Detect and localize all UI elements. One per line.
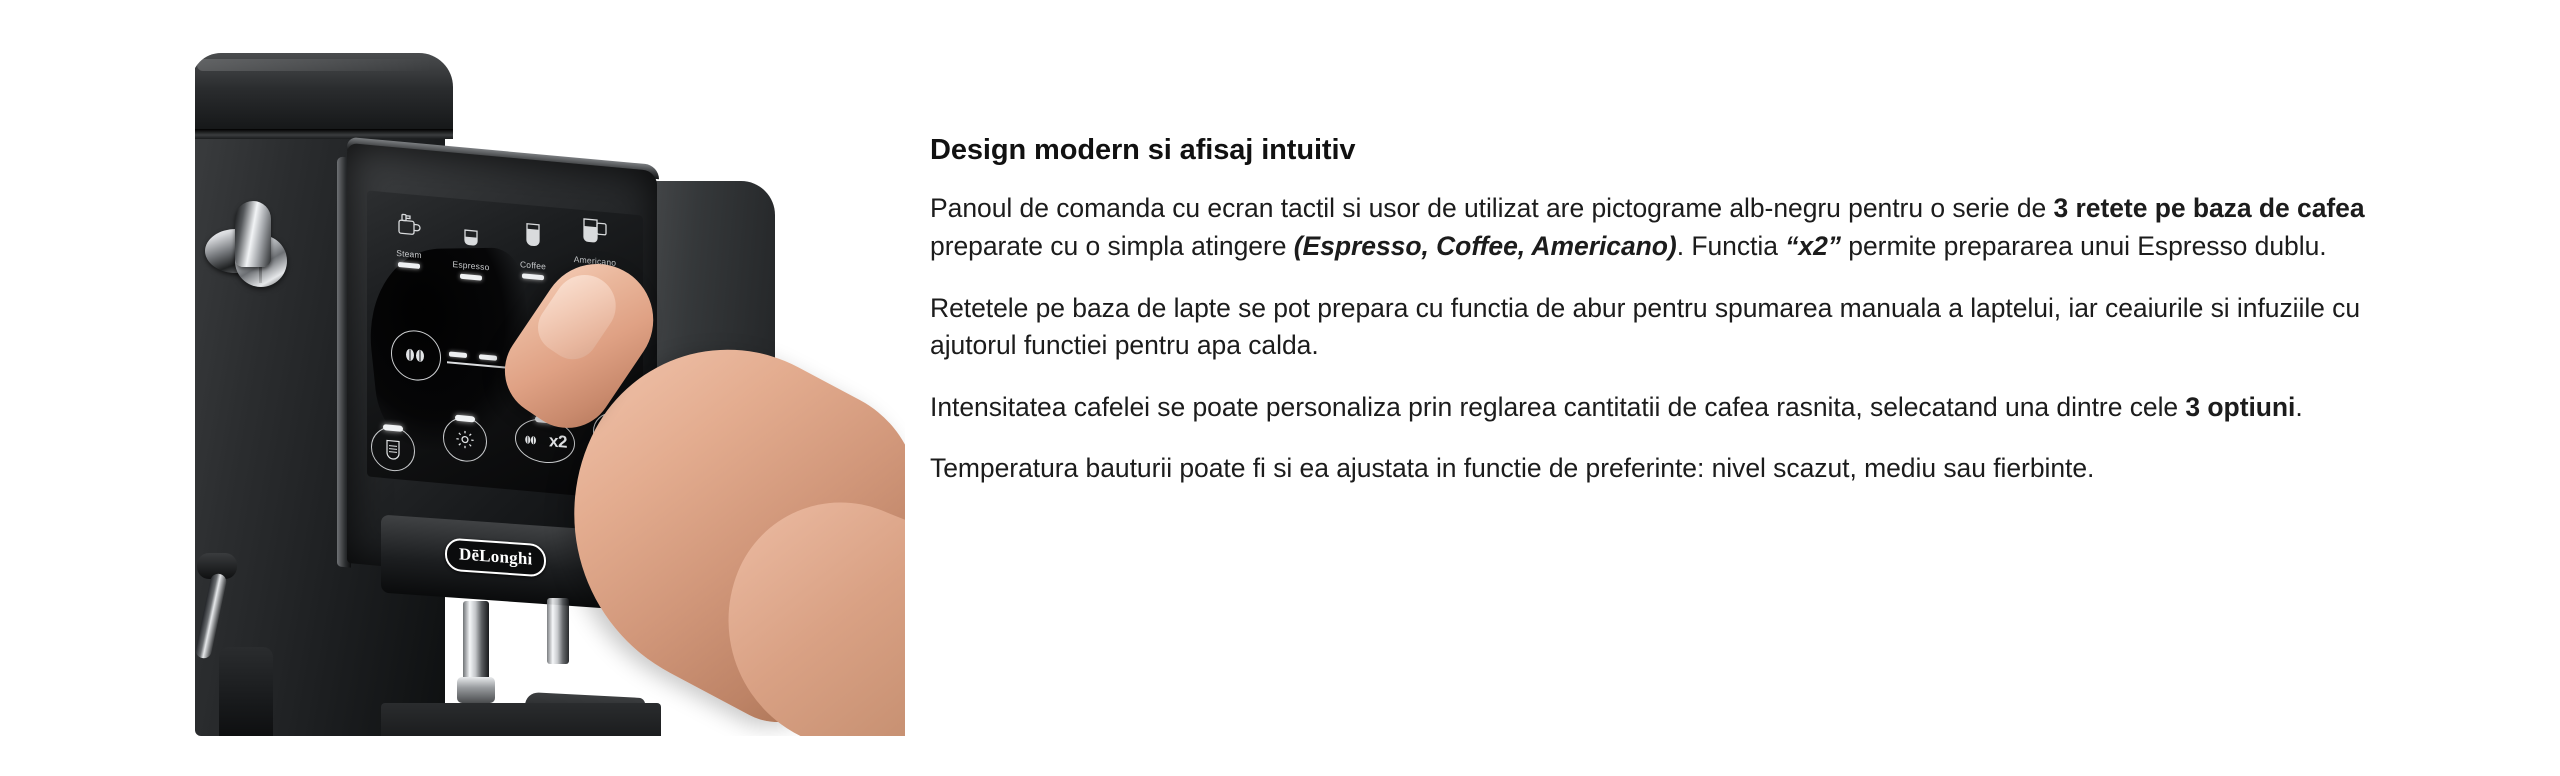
text-run-5: “x2” xyxy=(1785,231,1841,261)
text-run-2: . xyxy=(2295,392,2302,422)
americano-mug-icon xyxy=(569,213,621,255)
coffee-cup-icon xyxy=(507,217,559,259)
feature-text-column: Design modern si afisaj intuitiv Panoul … xyxy=(930,132,2370,488)
steam-jug-icon xyxy=(383,208,435,248)
drink-led-steam xyxy=(398,262,420,269)
paragraph-1: Panoul de comanda cu ecran tactil si uso… xyxy=(930,190,2370,265)
product-feature-section: Steam Espresso xyxy=(0,0,2560,776)
coffee-machine-photo: Steam Espresso xyxy=(195,53,905,736)
steam-knob xyxy=(205,201,291,293)
drink-label-espresso: Espresso xyxy=(445,258,497,273)
text-run-1: 3 optiuni xyxy=(2185,392,2295,422)
text-run-3: (Espresso, Coffee, Americano) xyxy=(1294,231,1677,261)
strength-level-2 xyxy=(479,354,497,361)
paragraph-2: Retetele pe baza de lapte se pot prepara… xyxy=(930,290,2370,365)
text-run-1: 3 retete pe baza de cafea xyxy=(2054,193,2365,223)
coffee-beans-icon xyxy=(391,328,441,383)
steam-wand-tip xyxy=(219,647,273,736)
strength-level-1 xyxy=(449,351,467,358)
spout-chrome-ring xyxy=(457,677,495,703)
text-run-0: Retetele pe baza de lapte se pot prepara… xyxy=(930,293,2360,361)
steam-knob-lever xyxy=(235,201,271,267)
text-run-2: preparate cu o simpla atingere xyxy=(930,231,1294,261)
lid-seam xyxy=(195,129,453,139)
text-run-6: permite prepararea unui Espresso dublu. xyxy=(1841,231,2327,261)
paragraph-3: Intensitatea cafelei se poate personaliz… xyxy=(930,389,2370,427)
pointing-finger xyxy=(525,259,905,736)
paragraph-4: Temperatura bauturii poate fi si ea ajus… xyxy=(930,450,2370,488)
text-run-0: Temperatura bauturii poate fi si ea ajus… xyxy=(930,453,2094,483)
text-run-0: Panoul de comanda cu ecran tactil si uso… xyxy=(930,193,2054,223)
drink-button-espresso: Espresso xyxy=(445,221,497,282)
text-run-0: Intensitatea cafelei se poate personaliz… xyxy=(930,392,2185,422)
drink-label-steam: Steam xyxy=(383,247,435,262)
settings-led xyxy=(455,415,475,423)
page-title: Design modern si afisaj intuitiv xyxy=(930,132,2370,168)
drink-led-espresso xyxy=(460,274,482,281)
bean-hopper-lid xyxy=(195,53,453,133)
espresso-cup-icon xyxy=(445,221,497,259)
text-run-4: . Functia xyxy=(1677,231,1786,261)
product-image: Steam Espresso xyxy=(195,53,905,736)
hot-water-led xyxy=(383,424,403,432)
drink-button-steam: Steam xyxy=(383,208,435,271)
